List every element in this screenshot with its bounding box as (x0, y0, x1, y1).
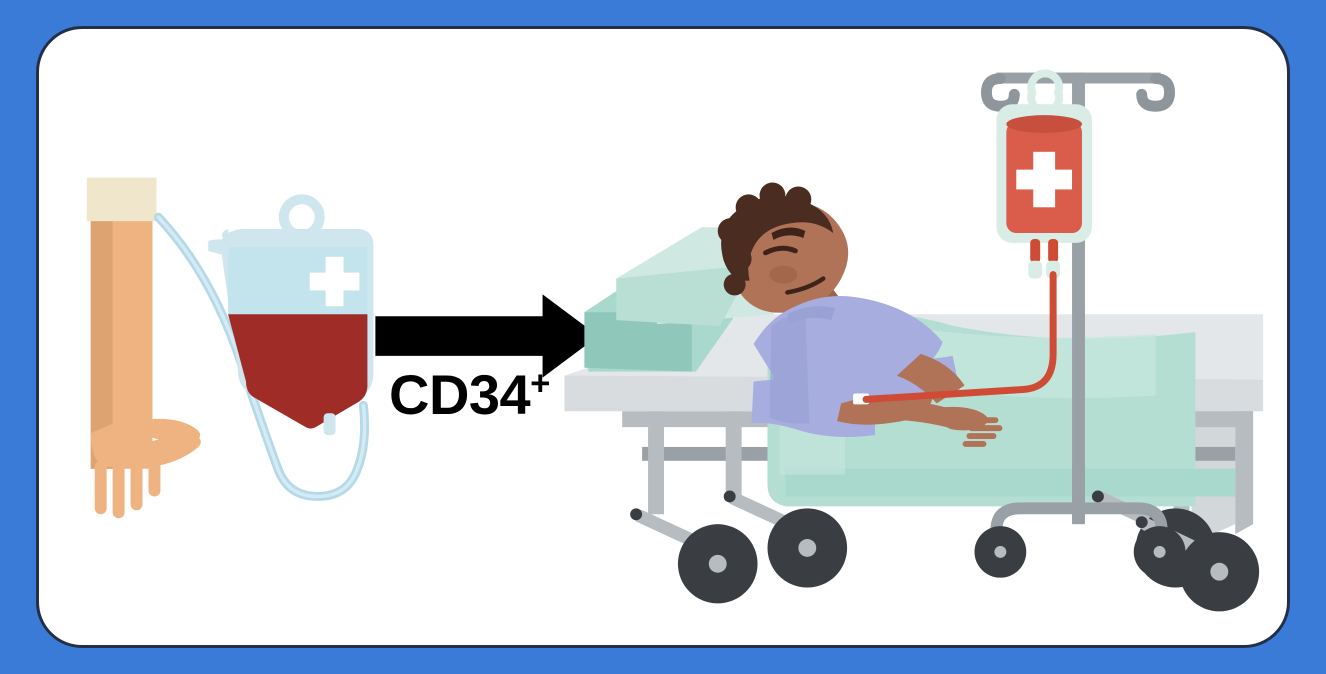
donor-finger-1 (95, 461, 107, 514)
donor-finger-4 (148, 455, 160, 497)
blood-collection-bag-group (208, 199, 373, 435)
patient-finger-2 (969, 425, 1003, 431)
illustration-card: CD34+ (36, 26, 1290, 648)
bed-leg-midleft (726, 411, 742, 496)
donor-finger-3 (131, 461, 143, 511)
illustration-scene (39, 29, 1287, 645)
patient-finger-1 (967, 417, 999, 423)
collection-bag-blood (228, 314, 367, 428)
bed-blanket-edge (785, 469, 1235, 497)
slide-canvas: CD34+ (0, 0, 1326, 674)
iv-bag-fluid-top (1006, 115, 1082, 133)
cd34-label-superscript: + (530, 364, 550, 402)
patient-cheek (769, 266, 797, 284)
iv-outlet-right (1048, 239, 1058, 263)
collection-bag-notch (208, 239, 230, 256)
patient-finger-4 (963, 441, 987, 447)
iv-outlet-left-cap (1028, 261, 1042, 279)
donor-sleeve (87, 178, 157, 222)
collection-bag-port (324, 413, 336, 435)
iv-pole-crossbar (996, 73, 1160, 84)
cd34-label-text: CD34 (389, 363, 530, 426)
patient-finger-3 (967, 433, 997, 439)
bed-caster-left (630, 508, 757, 603)
patient-gown-shade (769, 312, 809, 423)
bed-leg-left (648, 411, 664, 514)
iv-base-stem (1072, 494, 1085, 524)
cd34-label: CD34+ (389, 367, 550, 423)
iv-outlet-left (1030, 239, 1040, 263)
donor-finger-2 (113, 463, 125, 518)
